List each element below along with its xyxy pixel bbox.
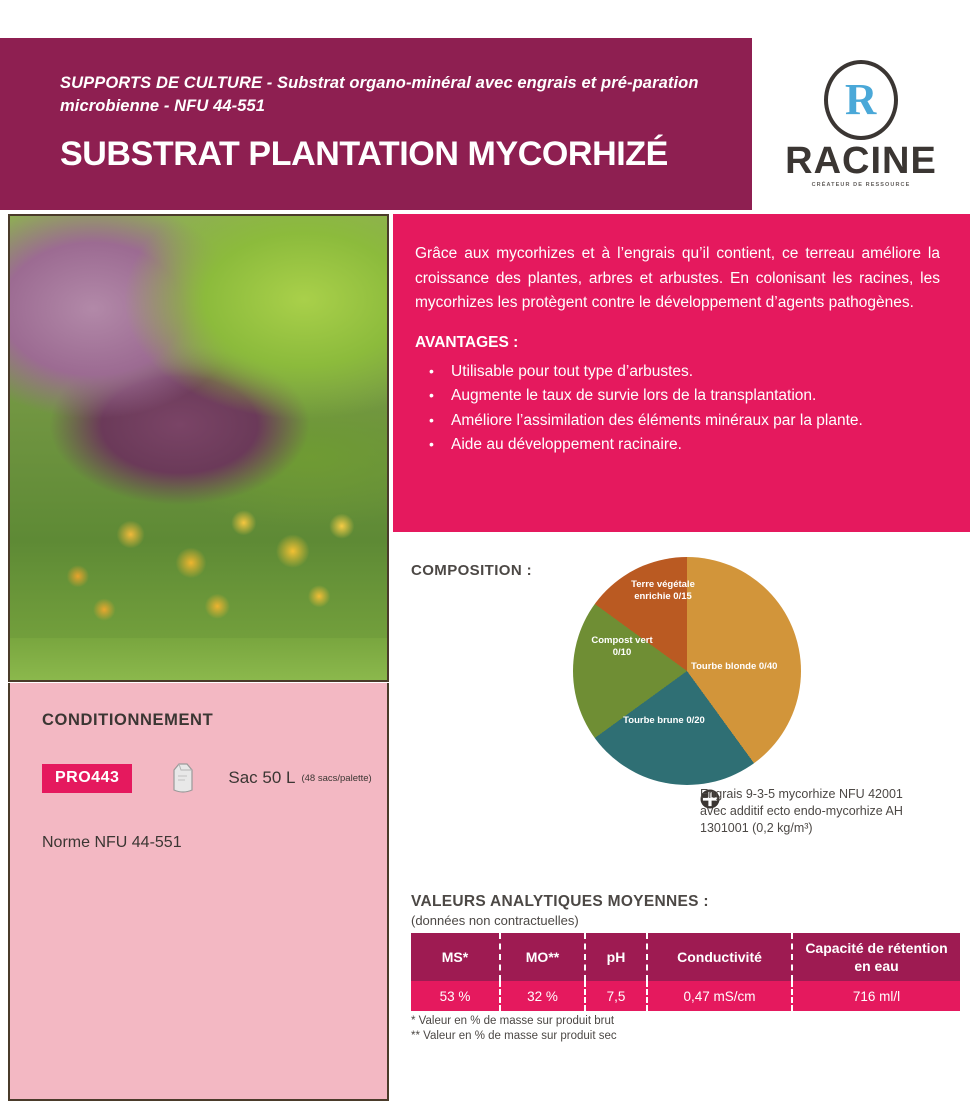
list-item: Utilisable pour tout type d’arbustes. (415, 360, 940, 385)
analytics-title: VALEURS ANALYTIQUES MOYENNES : (411, 893, 709, 911)
logo-circle-icon: Я (824, 60, 898, 140)
pie-label-compost-vert: Compost vert 0/10 (585, 635, 659, 659)
description-panel: Grâce aux mycorhizes et à l’engrais qu’i… (393, 214, 970, 532)
table-header-row: MS* MO** pH Conductivité Capacité de rét… (411, 933, 960, 981)
product-datasheet: SUPPORTS DE CULTURE - Substrat organo-mi… (0, 0, 970, 1109)
analytics-table: MS* MO** pH Conductivité Capacité de rét… (411, 933, 960, 1011)
photo-flowers (10, 476, 387, 643)
table-header-cell: MO** (501, 933, 586, 981)
list-item: Aide au développement racinaire. (415, 433, 940, 458)
brand-tagline: CRÉATEUR DE RESSOURCE (812, 182, 911, 188)
table-cell: 53 % (411, 981, 501, 1011)
advantages-title: AVANTAGES : (415, 334, 940, 352)
header-subtitle: SUPPORTS DE CULTURE - Substrat organo-mi… (60, 72, 720, 118)
additive-note: Engrais 9-3-5 mycorhize NFU 42001 avec a… (700, 786, 925, 837)
description-text: Grâce aux mycorhizes et à l’engrais qu’i… (415, 242, 940, 316)
advantages-list: Utilisable pour tout type d’arbustes. Au… (415, 360, 940, 458)
conditionnement-title: CONDITIONNEMENT (42, 711, 387, 730)
package-label: Sac 50 L (228, 768, 295, 788)
table-header-cell: MS* (411, 933, 501, 981)
list-item: Augmente le taux de survie lors de la tr… (415, 384, 940, 409)
footnote-double-star: ** Valeur en % de masse sur produit sec (411, 1029, 617, 1044)
logo-letter: Я (845, 78, 877, 122)
table-header-cell: Conductivité (648, 933, 793, 981)
table-cell: 7,5 (586, 981, 648, 1011)
norme-label: Norme NFU 44-551 (42, 834, 387, 852)
brand-name: RACINE (785, 142, 937, 180)
header-band: SUPPORTS DE CULTURE - Substrat organo-mi… (0, 38, 752, 210)
table-row: 53 % 32 % 7,5 0,47 mS/cm 716 ml/l (411, 981, 960, 1011)
footnote-single-star: * Valeur en % de masse sur produit brut (411, 1014, 617, 1029)
page-title: SUBSTRAT PLANTATION MYCORHIZÉ (60, 134, 750, 174)
sack-icon (170, 762, 196, 794)
table-header-cell: pH (586, 933, 648, 981)
table-cell: 0,47 mS/cm (648, 981, 793, 1011)
pie-label-terre-vegetale: Terre végétale enrichie 0/15 (615, 579, 711, 603)
analytics-subtitle: (données non contractuelles) (411, 913, 579, 928)
packaging-row: PRO443 Sac 50 L (48 sacs/palette) (42, 762, 387, 794)
table-footnotes: * Valeur en % de masse sur produit brut … (411, 1014, 617, 1044)
product-photo (8, 214, 389, 682)
package-detail: (48 sacs/palette) (301, 773, 371, 784)
pie-label-tourbe-brune: Tourbe brune 0/20 (601, 715, 727, 727)
brand-logo: Я RACINE CRÉATEUR DE RESSOURCE (752, 38, 970, 210)
composition-title: COMPOSITION : (411, 562, 532, 579)
conditionnement-panel: CONDITIONNEMENT PRO443 Sac 50 L (48 sacs… (8, 683, 389, 1101)
table-cell: 32 % (501, 981, 586, 1011)
table-cell: 716 ml/l (793, 981, 960, 1011)
list-item: Améliore l’assimilation des éléments min… (415, 409, 940, 434)
composition-pie-chart: Terre végétale enrichie 0/15 Tourbe blon… (573, 557, 801, 785)
pie-label-tourbe-blonde: Tourbe blonde 0/40 (691, 661, 803, 673)
product-code-badge: PRO443 (42, 764, 132, 793)
photo-lawn (10, 638, 387, 680)
table-header-cell: Capacité de rétention en eau (793, 933, 960, 981)
